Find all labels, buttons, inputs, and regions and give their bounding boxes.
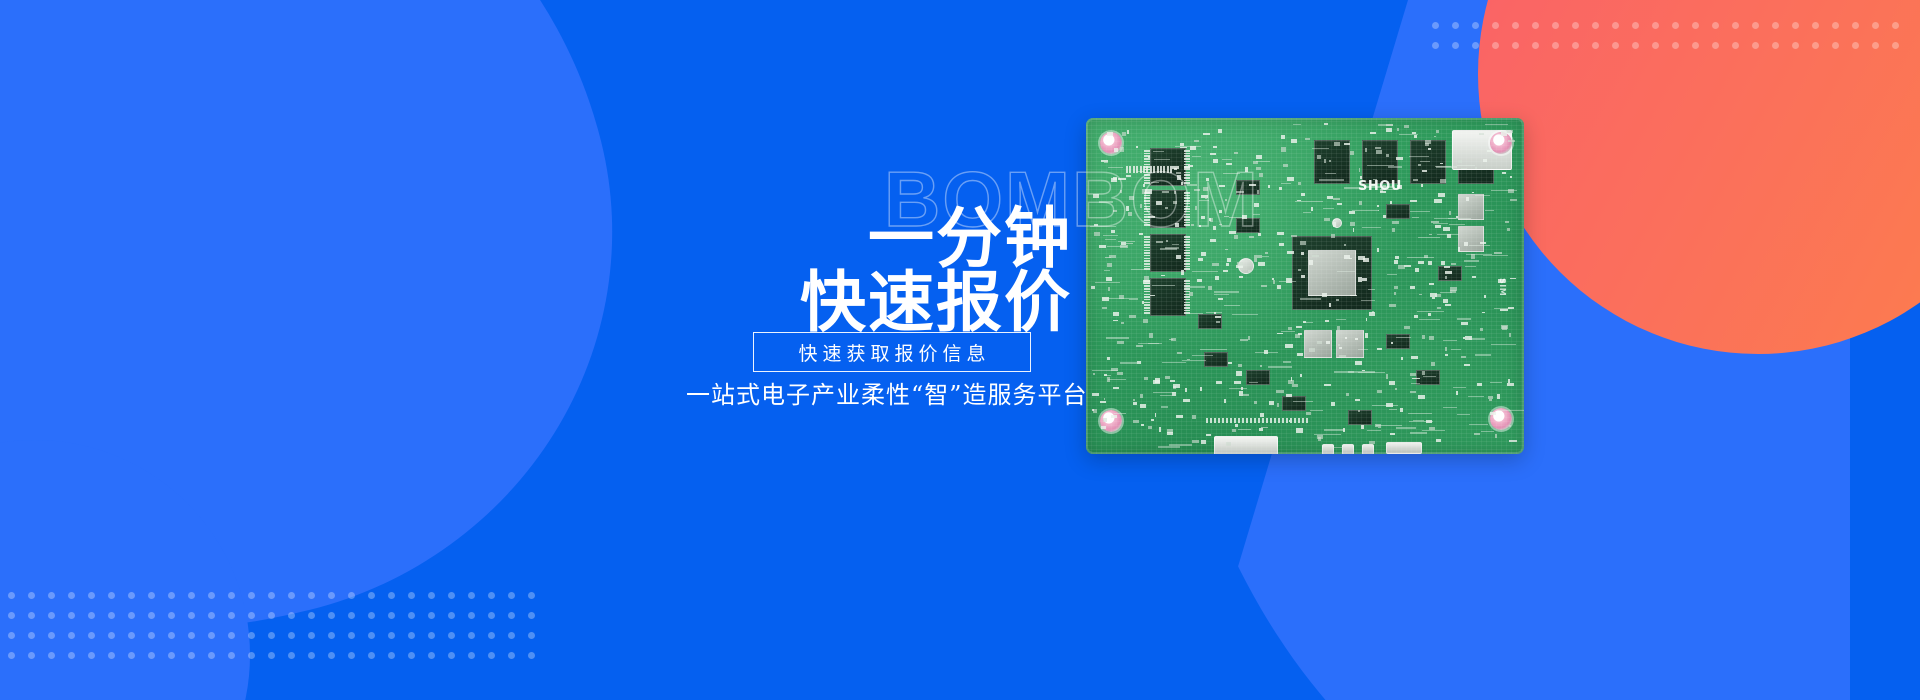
pcb-trace: [1229, 217, 1245, 218]
pcb-passive: [1291, 377, 1293, 381]
dot: [1552, 22, 1559, 29]
dot-row: [8, 652, 548, 672]
pcb-pin-header: [1254, 418, 1256, 423]
pcb-passive: [1318, 437, 1321, 441]
pcb-inductor: [1336, 330, 1364, 358]
pcb-passive: [1260, 365, 1262, 368]
dot: [368, 632, 375, 639]
pcb-silkscreen-label: SIM: [1498, 278, 1506, 296]
dot: [1532, 22, 1539, 29]
pcb-pin: [1144, 197, 1150, 199]
pcb-passive: [1369, 441, 1375, 444]
dot: [348, 632, 355, 639]
dot: [228, 592, 235, 599]
pcb-passive: [1219, 210, 1223, 213]
pcb-ic-flash: [1458, 140, 1494, 184]
dot: [148, 632, 155, 639]
pcb-pin: [1184, 195, 1190, 197]
pcb-passive: [1386, 403, 1392, 407]
pcb-pin: [1184, 307, 1190, 309]
pcb-passive: [1506, 130, 1513, 133]
pcb-passive: [1094, 232, 1100, 236]
pcb-pin: [1144, 222, 1150, 224]
pcb-mounting-hole: [1490, 132, 1512, 154]
pcb-passive: [1425, 140, 1431, 144]
pcb-passive: [1477, 383, 1482, 385]
pcb-passive: [1226, 163, 1232, 165]
pcb-passive: [1180, 147, 1187, 148]
pcb-pin: [1184, 150, 1190, 152]
pcb-passive: [1259, 428, 1264, 431]
pcb-passive: [1120, 147, 1124, 152]
pcb-ic-memory: [1150, 190, 1186, 228]
pcb-passive: [1117, 341, 1124, 344]
pcb-passive: [1489, 399, 1492, 401]
dot: [28, 632, 35, 639]
pcb-passive: [1429, 427, 1434, 430]
pcb-passive: [1174, 191, 1176, 195]
pcb-passive: [1248, 270, 1251, 272]
pcb-pin: [1184, 299, 1190, 301]
pcb-passive: [1509, 440, 1517, 442]
dot: [288, 612, 295, 619]
pcb-trace: [1367, 430, 1381, 431]
pcb-pin: [1184, 208, 1190, 210]
pcb-passive: [1104, 161, 1108, 163]
pcb-pin: [1144, 158, 1150, 160]
pcb-passive: [1173, 201, 1177, 204]
pcb-ic-small: [1348, 410, 1372, 425]
pcb-pin: [1184, 200, 1190, 202]
dot: [1572, 22, 1579, 29]
pcb-trace: [1448, 218, 1471, 219]
pcb-passive: [1256, 167, 1261, 170]
pcb-passive: [1312, 255, 1319, 257]
pcb-trace: [1172, 244, 1178, 245]
pcb-trace: [1256, 161, 1270, 162]
dot: [48, 592, 55, 599]
pcb-passive: [1428, 148, 1431, 150]
pcb-passive: [1378, 424, 1381, 428]
pcb-passive: [1415, 268, 1420, 272]
pcb-passive: [1418, 164, 1421, 166]
pcb-trace: [1491, 344, 1516, 345]
dot: [148, 652, 155, 659]
dot: [448, 632, 455, 639]
dot: [128, 632, 135, 639]
pcb-trace: [1323, 208, 1334, 209]
dot: [1572, 42, 1579, 49]
pcb-passive: [1093, 409, 1097, 413]
pcb-passive: [1397, 128, 1399, 131]
pcb-header: [1386, 442, 1422, 454]
pcb-trace: [1475, 195, 1490, 196]
pcb-trace: [1158, 446, 1180, 447]
pcb-trace: [1418, 237, 1440, 238]
pcb-passive: [1345, 337, 1347, 339]
pcb-passive: [1383, 185, 1386, 190]
pcb-passive: [1464, 364, 1470, 366]
pcb-passive: [1297, 353, 1303, 357]
pcb-passive: [1383, 215, 1386, 218]
pcb-passive: [1472, 276, 1476, 278]
pcb-passive: [1392, 221, 1399, 224]
pcb-capacitor: [1238, 258, 1254, 274]
pcb-pin: [1184, 214, 1190, 216]
pcb-trace: [1498, 410, 1524, 411]
pcb-passive: [1265, 252, 1268, 254]
pcb-passive: [1443, 227, 1449, 231]
pcb-pin: [1144, 307, 1150, 309]
dot: [1872, 22, 1879, 29]
pcb-trace: [1253, 214, 1259, 215]
pcb-passive: [1254, 258, 1257, 262]
pcb-passive: [1337, 203, 1342, 205]
pcb-pin-header: [1129, 166, 1131, 173]
pcb-pin-header: [1262, 418, 1264, 423]
pcb-ic-small: [1236, 180, 1260, 195]
pcb-pin: [1144, 260, 1150, 262]
pcb-passive: [1226, 442, 1231, 446]
pcb-passive: [1339, 355, 1346, 357]
pcb-passive: [1422, 335, 1424, 339]
pcb-passive: [1404, 326, 1409, 328]
pcb-passive: [1435, 225, 1441, 228]
pcb-passive: [1464, 242, 1468, 247]
pcb-trace: [1224, 305, 1239, 306]
pcb-trace: [1214, 291, 1239, 292]
pcb-pin: [1184, 166, 1190, 168]
pcb-passive: [1268, 185, 1270, 188]
pcb-passive: [1396, 157, 1403, 160]
pcb-passive: [1269, 401, 1274, 405]
pcb-passive: [1359, 168, 1361, 171]
dot: [268, 632, 275, 639]
pcb-passive: [1219, 224, 1222, 225]
pcb-pin: [1184, 268, 1190, 270]
dot: [1452, 22, 1459, 29]
pcb-passive: [1298, 269, 1302, 271]
pcb-passive: [1426, 420, 1431, 423]
pcb-passive: [1421, 184, 1423, 187]
pcb-trace: [1465, 266, 1476, 267]
pcb-passive: [1286, 278, 1292, 282]
pcb-passive: [1358, 410, 1361, 412]
pcb-trace: [1485, 210, 1494, 211]
pcb-trace: [1457, 165, 1475, 166]
pcb-passive: [1410, 200, 1417, 202]
dot: [48, 612, 55, 619]
pcb-passive: [1429, 283, 1433, 285]
pcb-passive: [1229, 231, 1236, 235]
dot: [1752, 22, 1759, 29]
dot: [328, 652, 335, 659]
pcb-passive: [1301, 275, 1305, 279]
pcb-pin: [1184, 260, 1190, 262]
pcb-trace: [1410, 211, 1429, 212]
pcb-passive: [1355, 338, 1358, 340]
pcb-passive: [1380, 191, 1386, 193]
dot: [348, 652, 355, 659]
dot: [128, 592, 135, 599]
pcb-trace: [1381, 189, 1395, 190]
pcb-passive: [1111, 178, 1117, 182]
pcb-passive: [1389, 304, 1396, 307]
pcb-trace: [1295, 201, 1322, 202]
pcb-pin: [1144, 288, 1150, 290]
pcb-passive: [1201, 216, 1205, 219]
pcb-trace: [1434, 218, 1456, 219]
pcb-passive: [1127, 130, 1129, 134]
pcb-pin-header: [1222, 418, 1224, 423]
dot: [68, 652, 75, 659]
dot: [68, 592, 75, 599]
pcb-passive: [1325, 320, 1329, 322]
pcb-trace: [1114, 413, 1125, 414]
dot: [328, 612, 335, 619]
pcb-passive: [1208, 286, 1212, 290]
pcb-passive: [1161, 275, 1165, 276]
pcb-passive: [1100, 401, 1106, 403]
pcb-trace: [1344, 187, 1363, 188]
pcb-passive: [1277, 285, 1282, 289]
pcb-passive: [1192, 415, 1196, 419]
pcb-passive: [1456, 216, 1458, 218]
pcb-passive: [1445, 271, 1452, 274]
dot: [148, 592, 155, 599]
pcb-trace: [1090, 226, 1115, 227]
pcb-passive: [1502, 326, 1507, 330]
dot: [528, 632, 535, 639]
pcb-passive: [1361, 425, 1365, 429]
pcb-passive: [1509, 333, 1511, 337]
pcb-jack: [1342, 444, 1354, 454]
pcb-passive: [1213, 226, 1216, 230]
pcb-ic-small: [1236, 218, 1260, 233]
pcb-pin-header: [1146, 166, 1148, 173]
pcb-passive: [1136, 345, 1143, 347]
pcb-pin: [1184, 239, 1190, 241]
pcb-passive: [1143, 280, 1150, 284]
pcb-pin: [1184, 310, 1190, 312]
pcb-passive: [1360, 176, 1363, 179]
dot: [508, 632, 515, 639]
pcb-trace: [1491, 190, 1516, 191]
pcb-passive: [1170, 380, 1175, 382]
pcb-passive: [1338, 344, 1340, 346]
pcb-pin-header: [1226, 418, 1228, 423]
pcb-trace: [1249, 382, 1257, 383]
dot: [1492, 22, 1499, 29]
pcb-ic-flash: [1362, 140, 1398, 184]
pcb-passive: [1386, 124, 1394, 126]
pcb-passive: [1191, 224, 1195, 226]
pcb-trace: [1443, 340, 1457, 341]
dot: [488, 632, 495, 639]
pcb-trace: [1106, 337, 1129, 338]
pcb-card-connector: [1452, 130, 1512, 170]
dot: [248, 612, 255, 619]
pcb-passive: [1224, 216, 1229, 218]
pcb-pin-header: [1246, 418, 1248, 423]
pcb-passive: [1167, 429, 1173, 432]
pcb-passive: [1107, 132, 1113, 136]
pcb-trace: [1466, 254, 1491, 255]
pcb-passive: [1141, 424, 1143, 426]
pcb-trace: [1281, 183, 1291, 184]
pcb-pin: [1184, 296, 1190, 298]
pcb-passive: [1377, 248, 1379, 252]
pcb-passive: [1092, 409, 1094, 410]
pcb-passive: [1171, 338, 1175, 341]
pcb-trace: [1469, 424, 1488, 425]
dot: [1592, 42, 1599, 49]
pcb-cpu-die: [1308, 250, 1356, 296]
pcb-passive: [1430, 293, 1437, 297]
pcb-passive: [1411, 356, 1418, 359]
pcb-trace: [1200, 349, 1227, 350]
pcb-trace: [1440, 292, 1452, 293]
dot: [208, 592, 215, 599]
dot: [208, 652, 215, 659]
dot: [248, 632, 255, 639]
pcb-passive: [1394, 286, 1398, 289]
dot: [308, 612, 315, 619]
pcb-trace: [1457, 318, 1471, 319]
pcb-pin-header: [1163, 166, 1165, 173]
pcb-pin: [1184, 222, 1190, 224]
pcb-passive: [1216, 321, 1220, 323]
pcb-passive: [1495, 434, 1498, 437]
pcb-passive: [1295, 334, 1300, 338]
pcb-trace: [1152, 285, 1175, 286]
pcb-pin-header: [1160, 166, 1162, 173]
pcb-passive: [1394, 292, 1396, 295]
pcb-pin: [1144, 294, 1150, 296]
dot: [388, 612, 395, 619]
pcb-passive: [1422, 170, 1427, 172]
pcb-trace: [1388, 166, 1402, 167]
dot: [8, 612, 15, 619]
pcb-cpu-package: [1292, 236, 1372, 310]
pcb-pin-header: [1143, 166, 1145, 173]
pcb-passive: [1488, 396, 1493, 399]
pcb-passive: [1121, 242, 1126, 245]
dot-grid-top-right: [1432, 22, 1912, 62]
pcb-passive: [1279, 187, 1282, 190]
dot: [88, 592, 95, 599]
pcb-passive: [1375, 424, 1378, 426]
pcb-trace: [1279, 281, 1297, 282]
pcb-passive: [1508, 379, 1510, 382]
pcb-passive: [1190, 146, 1196, 149]
dot: [508, 652, 515, 659]
pcb-pin-header: [1306, 418, 1308, 423]
pcb-passive: [1113, 312, 1119, 316]
dot: [108, 632, 115, 639]
pcb-passive: [1120, 245, 1127, 248]
pcb-passive: [1125, 243, 1132, 244]
pcb-passive: [1285, 344, 1293, 347]
pcb-trace: [1160, 248, 1177, 249]
pcb-passive: [1324, 159, 1326, 163]
pcb-trace: [1325, 173, 1336, 174]
dot: [48, 632, 55, 639]
pcb-pin: [1184, 285, 1190, 287]
pcb-trace: [1199, 200, 1209, 201]
pcb-trace: [1358, 349, 1368, 350]
pcb-trace: [1413, 420, 1424, 421]
pcb-passive: [1232, 429, 1236, 432]
dot: [1632, 22, 1639, 29]
dot: [388, 592, 395, 599]
pcb-pin: [1184, 197, 1190, 199]
pcb-passive: [1185, 388, 1187, 392]
pcb-passive: [1508, 307, 1514, 309]
dot: [88, 632, 95, 639]
pcb-passive: [1450, 287, 1456, 291]
pcb-passive: [1431, 362, 1435, 366]
dot: [1832, 42, 1839, 49]
pcb-passive: [1463, 337, 1465, 339]
pcb-passive: [1181, 182, 1183, 185]
pcb-passive: [1235, 424, 1238, 427]
pcb-pin: [1144, 266, 1150, 268]
pcb-trace: [1153, 392, 1176, 393]
pcb-pin-header: [1294, 418, 1296, 423]
pcb-passive: [1410, 373, 1416, 376]
pcb-passive: [1343, 428, 1345, 432]
dot: [148, 612, 155, 619]
pcb-trace: [1303, 212, 1311, 213]
pcb-passive: [1494, 252, 1501, 254]
pcb-trace: [1337, 271, 1355, 272]
pcb-passive: [1324, 218, 1329, 222]
pcb-pin: [1144, 161, 1150, 163]
pcb-passive: [1143, 184, 1145, 187]
pcb-passive: [1445, 347, 1447, 350]
pcb-passive: [1362, 370, 1365, 372]
pcb-passive: [1505, 221, 1509, 222]
dot: [288, 632, 295, 639]
pcb-passive: [1140, 404, 1146, 408]
pcb-passive: [1344, 255, 1350, 259]
pcb-trace: [1192, 355, 1213, 356]
pcb-passive: [1254, 401, 1257, 403]
pcb-passive: [1390, 433, 1395, 435]
dot: [348, 612, 355, 619]
pcb-trace: [1389, 409, 1397, 410]
pcb-passive: [1201, 195, 1208, 198]
pcb-pin: [1184, 211, 1190, 213]
pcb-trace: [1206, 312, 1222, 313]
pcb-passive: [1174, 168, 1177, 170]
dot: [448, 612, 455, 619]
pcb-pin: [1144, 280, 1150, 282]
pcb-trace: [1410, 432, 1427, 433]
pcb-trace: [1182, 360, 1206, 361]
pcb-passive: [1218, 129, 1221, 133]
pcb-passive: [1386, 128, 1392, 132]
get-quote-button[interactable]: 快速获取报价信息: [753, 332, 1031, 372]
pcb-pin: [1144, 241, 1150, 243]
pcb-pin-header: [1286, 418, 1288, 423]
pcb-pin-header: [1126, 166, 1128, 173]
dot: [1652, 22, 1659, 29]
pcb-passive: [1226, 263, 1229, 267]
pcb-passive: [1140, 394, 1143, 397]
pcb-pin: [1184, 263, 1190, 265]
